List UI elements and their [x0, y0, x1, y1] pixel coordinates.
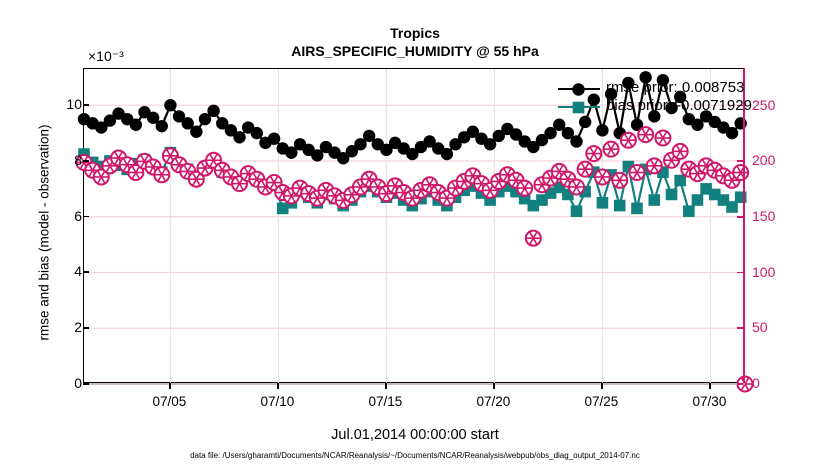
y-axis-left-tick-mark	[83, 216, 89, 218]
data-series-layer	[84, 69, 745, 384]
axis-exponent-multiplier: ×10⁻³	[88, 48, 124, 65]
y-axis-right-tick-mark	[737, 160, 743, 162]
y-axis-right-tick-label: 50	[752, 319, 768, 335]
y-axis-right-tick-label: 0	[752, 375, 760, 391]
y-axis-left-tick-mark	[83, 327, 89, 329]
y-axis-left-tick-mark	[83, 383, 89, 385]
y-axis-left-tick-label: 0	[74, 375, 82, 391]
y-axis-right-tick-label: 200	[752, 152, 775, 168]
chart-title-region: Tropics	[0, 25, 830, 41]
data-file-footer: data file: /Users/gharamti/Documents/NCA…	[0, 451, 830, 460]
y-axis-left-tick-label: 6	[74, 208, 82, 224]
x-axis-tick-mark	[385, 383, 387, 389]
right-axis-spine	[743, 68, 745, 383]
square-marker-icon	[571, 100, 586, 115]
x-axis-label: Jul.01,2014 00:00:00 start	[0, 427, 830, 443]
y-axis-right-tick-label: 100	[752, 264, 775, 280]
y-axis-right-tick-mark	[737, 327, 743, 329]
y-axis-right-tick-mark	[737, 383, 743, 385]
y-axis-right-tick-label: 250	[752, 97, 775, 113]
y-axis-right-tick-mark	[737, 272, 743, 274]
x-axis-tick-label: 07/15	[369, 394, 403, 409]
chart-subtitle: AIRS_SPECIFIC_HUMIDITY @ 55 hPa	[0, 43, 830, 59]
y-axis-left-tick-mark	[83, 104, 89, 106]
y-axis-left-tick-mark	[83, 271, 89, 273]
x-axis-tick-mark	[169, 383, 171, 389]
y-axis-left-tick-label: 2	[74, 319, 82, 335]
x-axis-tick-label: 07/05	[152, 394, 186, 409]
x-axis-tick-label: 07/30	[693, 394, 727, 409]
x-axis-tick-label: 07/20	[477, 394, 511, 409]
y-axis-right-tick-label: 150	[752, 208, 775, 224]
y-axis-left-label: rmse and bias (model - observation)	[37, 83, 52, 383]
y-axis-left-tick-mark	[83, 160, 89, 162]
x-axis-tick-mark	[709, 383, 711, 389]
plot-area	[83, 68, 744, 383]
legend-label-rmse: rmse prior: 0.008753	[606, 79, 744, 96]
y-axis-left-tick-label: 8	[74, 152, 82, 168]
circle-marker-icon	[571, 82, 586, 97]
y-axis-left-tick-label: 4	[74, 263, 82, 279]
x-axis-tick-label: 07/25	[585, 394, 619, 409]
legend-label-bias: bias prior: -0.0071929	[606, 97, 752, 114]
y-axis-left-tick-label: 10	[66, 96, 82, 112]
chart-canvas: Tropics AIRS_SPECIFIC_HUMIDITY @ 55 hPa …	[0, 0, 830, 470]
y-axis-right-tick-mark	[737, 216, 743, 218]
x-axis-tick-mark	[493, 383, 495, 389]
x-axis-tick-label: 07/10	[261, 394, 295, 409]
x-axis-tick-mark	[601, 383, 603, 389]
x-axis-tick-mark	[277, 383, 279, 389]
